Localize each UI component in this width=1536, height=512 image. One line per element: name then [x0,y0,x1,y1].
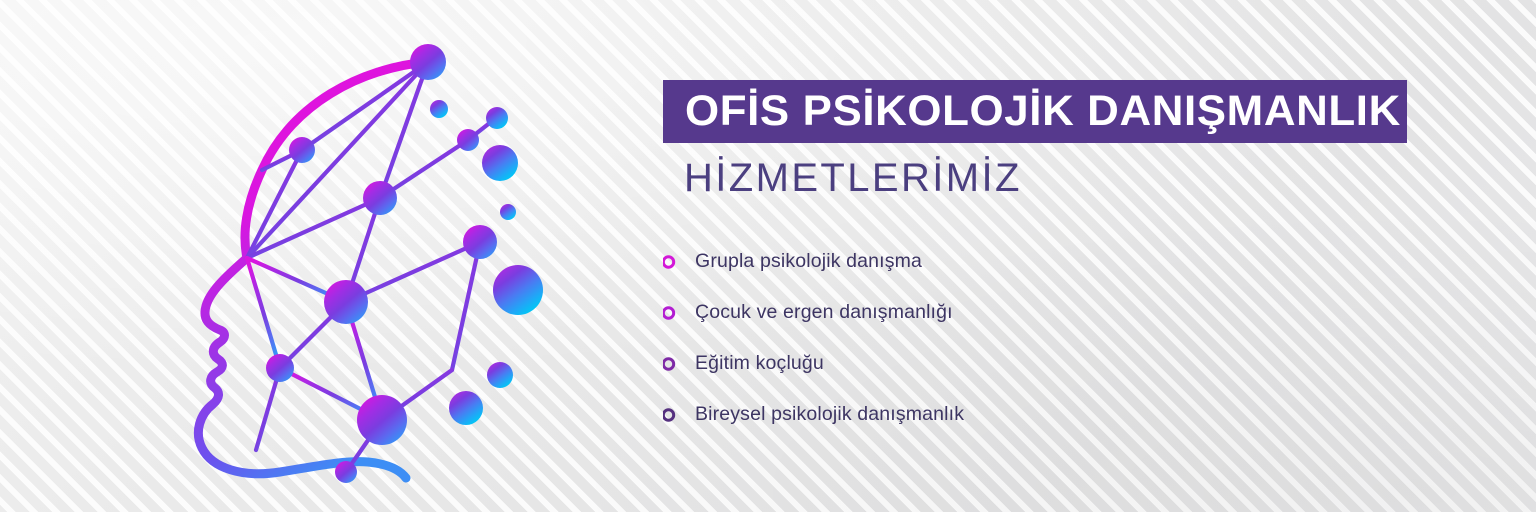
banner-root: OFİS PSİKOLOJİK DANIŞMANLIK HİZMETLERİMİ… [0,0,1536,512]
page-subtitle: HİZMETLERİMİZ [684,158,1022,198]
list-item[interactable]: Çocuk ve ergen danışmanlığı [695,300,953,326]
floating-dots [430,100,543,425]
list-item[interactable]: Grupla psikolojik danışma [695,249,922,275]
content-column: OFİS PSİKOLOJİK DANIŞMANLIK HİZMETLERİMİ… [663,0,1443,512]
list-item[interactable]: Eğitim koçluğu [695,351,824,377]
head-neural-network-graphic [150,20,590,490]
service-label: Bireysel psikolojik danışmanlık [695,405,964,425]
services-timeline: Grupla psikolojik danışma Çocuk ve ergen… [663,248,1443,512]
title-banner: OFİS PSİKOLOJİK DANIŞMANLIK [663,80,1407,143]
page-title: OFİS PSİKOLOJİK DANIŞMANLIK [685,90,1401,133]
service-label: Grupla psikolojik danışma [695,252,922,272]
service-label: Eğitim koçluğu [695,354,824,374]
list-item[interactable]: Bireysel psikolojik danışmanlık [695,402,964,428]
service-label: Çocuk ve ergen danışmanlığı [695,303,953,323]
timeline-axis [663,248,703,512]
